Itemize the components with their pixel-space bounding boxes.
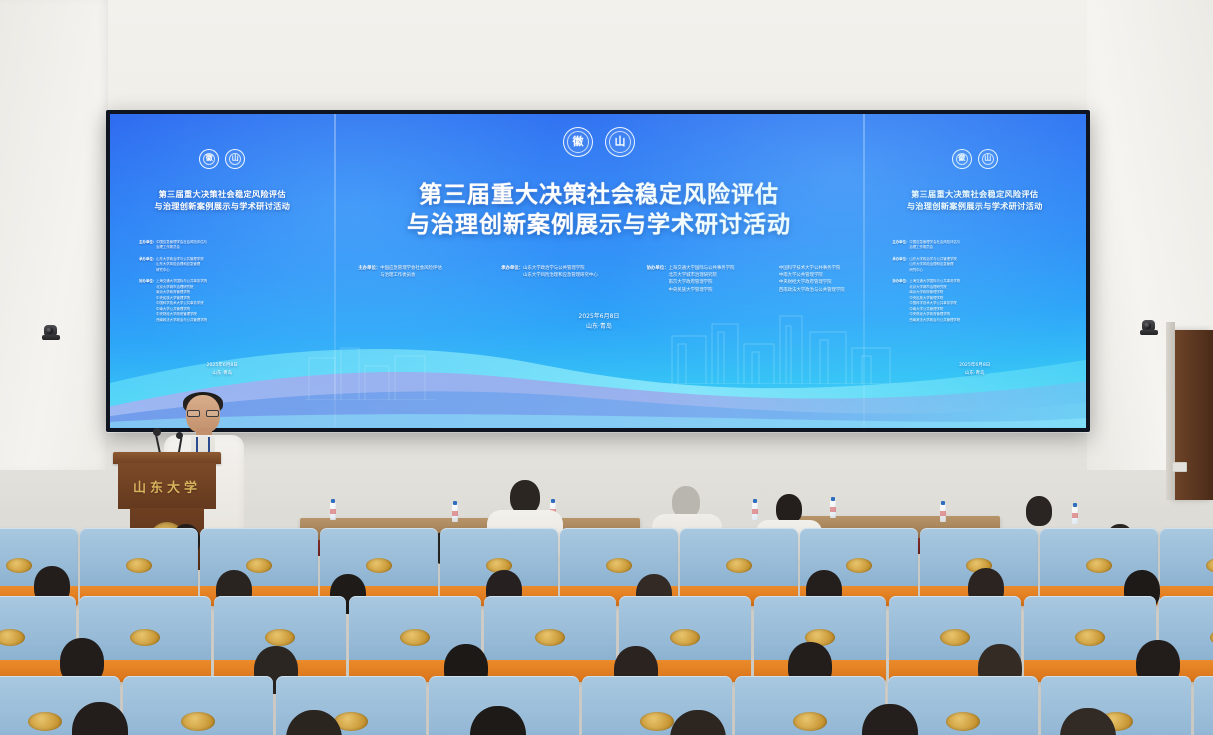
seat-emblem xyxy=(726,558,752,573)
event-main-title: 第三届重大决策社会稳定风险评估 与治理创新案例展示与学术研讨活动 xyxy=(345,180,853,241)
seat-emblem xyxy=(28,712,62,731)
seat-emblem xyxy=(640,712,674,731)
seat-emblem xyxy=(940,629,970,646)
audience-seating xyxy=(0,470,1213,735)
seat-emblem xyxy=(6,558,32,573)
china-emergency-management-society-seal: 徽 xyxy=(563,127,593,157)
event-date-location: 2025年6月8日 山东·青岛 xyxy=(334,312,863,332)
seat-emblem xyxy=(946,712,980,731)
seat-emblem xyxy=(246,558,272,573)
seat-emblem xyxy=(846,558,872,573)
center-organizer-col-2: 承办单位： 山东大学政治学与公共管理学院 山东大学风险治理和应急管理研究中心 xyxy=(501,265,598,280)
led-display[interactable]: 徽 山 第三届重大决策社会稳定风险评估 与治理创新案例展示与学术研讨活动 主办单… xyxy=(110,114,1086,428)
right-panel-seals: 徽 山 xyxy=(952,149,998,169)
seat[interactable] xyxy=(1194,676,1213,735)
seat[interactable] xyxy=(123,676,273,735)
seat-emblem xyxy=(265,629,295,646)
skyline-line-art xyxy=(666,310,896,384)
center-organizer-col-4: 中国科学技术大学公共事务学院 中南大学公共管理学院 中央财经大学政府管理学院 西… xyxy=(779,265,845,294)
water-bottle xyxy=(830,500,836,518)
seat-row-1 xyxy=(0,528,1213,606)
left-panel-organizers: 主办单位： 中国应急管理学会社会风险评估与 治理工作委员会 承办单位： 山东大学… xyxy=(139,240,207,324)
microphone-icon xyxy=(153,428,161,436)
left-wall xyxy=(0,0,108,470)
right-panel-date: 2025年6月8日 山东·青岛 xyxy=(863,362,1086,378)
seat[interactable] xyxy=(680,528,798,606)
water-bottle xyxy=(330,502,336,520)
seat-emblem xyxy=(400,629,430,646)
seat-row-3 xyxy=(0,676,1213,735)
left-panel-date: 2025年6月8日 山东·青岛 xyxy=(110,362,334,378)
right-panel-title: 第三届重大决策社会稳定风险评估 与治理创新案例展示与学术研讨活动 xyxy=(872,189,1077,213)
center-organizer-col-1: 主办单位： 中国应急管理学会社会风险评估 与治理工作委员会 xyxy=(358,265,441,280)
seat-emblem xyxy=(126,558,152,573)
seat-emblem xyxy=(1075,629,1105,646)
shandong-university-seal: 山 xyxy=(978,149,998,169)
screen-left-panel: 徽 山 第三届重大决策社会稳定风险评估 与治理创新案例展示与学术研讨活动 主办单… xyxy=(110,114,334,428)
water-bottle xyxy=(940,504,946,522)
shandong-university-seal: 山 xyxy=(605,127,635,157)
center-organizer-col-3: 协办单位： 上海交通大学国际与公共事务学院 北京大学城市治理研究院 南京大学政府… xyxy=(647,265,735,294)
seat[interactable] xyxy=(484,596,616,682)
china-emergency-management-society-seal: 徽 xyxy=(952,149,972,169)
conference-room: 徽 山 第三届重大决策社会稳定风险评估 与治理创新案例展示与学术研讨活动 主办单… xyxy=(0,0,1213,735)
seat-emblem xyxy=(606,558,632,573)
glasses-icon xyxy=(187,410,219,417)
seat-emblem xyxy=(535,629,565,646)
wall-camera-icon xyxy=(1140,320,1158,336)
led-display-bezel: 徽 山 第三届重大决策社会稳定风险评估 与治理创新案例展示与学术研讨活动 主办单… xyxy=(106,110,1090,432)
seat[interactable] xyxy=(80,528,198,606)
water-bottle xyxy=(452,504,458,522)
china-emergency-management-society-seal: 徽 xyxy=(199,149,219,169)
left-panel-title: 第三届重大决策社会稳定风险评估 与治理创新案例展示与学术研讨活动 xyxy=(119,189,326,213)
screen-center-panel: 徽 山 第三届重大决策社会稳定风险评估 与治理创新案例展示与学术研讨活动 主办单… xyxy=(334,114,863,428)
shandong-university-seal: 山 xyxy=(225,149,245,169)
microphone-icon xyxy=(176,432,183,439)
seat-emblem xyxy=(793,712,827,731)
audience-head xyxy=(510,480,540,514)
seat[interactable] xyxy=(1160,528,1213,606)
seat-row-2 xyxy=(0,596,1213,682)
seat-emblem xyxy=(181,712,215,731)
right-panel-organizers: 主办单位： 中国应急管理学会社会风险评估与 治理工作委员会 承办单位： 山东大学… xyxy=(892,240,960,324)
seat-emblem xyxy=(1086,558,1112,573)
panel-divider xyxy=(863,114,865,428)
seat-emblem xyxy=(130,629,160,646)
center-panel-seals: 徽 山 xyxy=(563,127,635,157)
wall-camera-icon xyxy=(42,325,60,341)
left-panel-seals: 徽 山 xyxy=(199,149,245,169)
seat-emblem xyxy=(670,629,700,646)
screen-right-panel: 徽 山 第三届重大决策社会稳定风险评估 与治理创新案例展示与学术研讨活动 主办单… xyxy=(863,114,1086,428)
water-bottle xyxy=(752,502,758,520)
water-bottle xyxy=(1072,506,1078,524)
seat-emblem xyxy=(366,558,392,573)
